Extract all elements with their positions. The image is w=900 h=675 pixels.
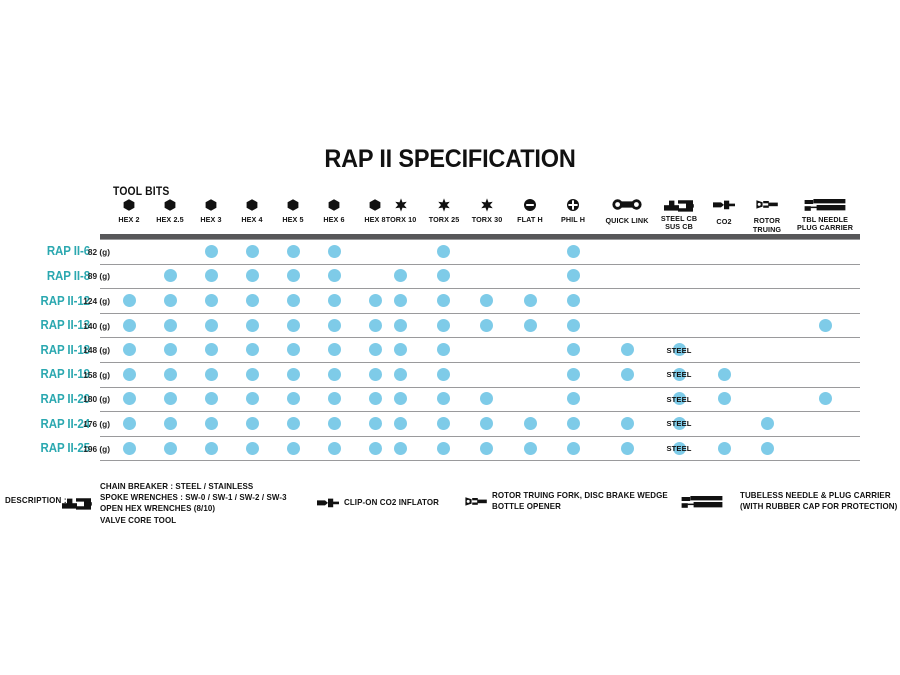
- column-header-label: TBL NEEDLEPLUG CARRIER: [790, 216, 860, 233]
- cell-dot-hex2: [123, 294, 136, 307]
- cell-dot-torx30: [480, 294, 493, 307]
- cell-dot-torx30: [480, 442, 493, 455]
- legend-line: (WITH RUBBER CAP FOR PROTECTION): [740, 501, 897, 512]
- cell-steel-label: STEEL: [654, 395, 704, 404]
- legend-line: CLIP-ON CO2 INFLATOR: [344, 497, 439, 508]
- cell-dot-hex8: [369, 343, 382, 356]
- cell-dot-hex5: [287, 269, 300, 282]
- hexagon-icon: [232, 197, 272, 214]
- column-header-label: HEX 6: [315, 216, 353, 225]
- column-header-label: ROTORTRUING: [746, 217, 788, 234]
- row-divider: [100, 411, 860, 412]
- row-weight: 176 (g): [74, 419, 110, 429]
- cell-dot-torx25: [437, 294, 450, 307]
- cell-dot-rotor: [761, 442, 774, 455]
- cell-dot-hex3: [205, 343, 218, 356]
- legend-text: TUBELESS NEEDLE & PLUG CARRIER(WITH RUBB…: [740, 490, 897, 512]
- row-divider: [100, 264, 860, 265]
- column-header-flath: FLAT H: [510, 196, 550, 232]
- cell-dot-torx25: [437, 392, 450, 405]
- hexagon-icon: [273, 197, 313, 214]
- column-header-co2: CO2: [707, 196, 741, 232]
- row-weight: 140 (g): [74, 321, 110, 331]
- cell-dot-hex2: [123, 392, 136, 405]
- flat-head-icon: [510, 197, 550, 214]
- cell-dot-hex2: [123, 319, 136, 332]
- cell-dot-philh: [567, 368, 580, 381]
- legend-rotor-truing-icon: [463, 495, 489, 508]
- cell-dot-torx10: [394, 442, 407, 455]
- quick-link-icon: [598, 198, 656, 215]
- column-header-hex2: HEX 2: [109, 196, 149, 232]
- cell-dot-hex25: [164, 392, 177, 405]
- cell-dot-hex3: [205, 245, 218, 258]
- cell-dot-torx30: [480, 392, 493, 405]
- column-header-label: HEX 2.5: [148, 216, 192, 225]
- row-divider: [100, 239, 860, 240]
- chain-breaker-icon: [654, 196, 704, 213]
- cell-dot-torx25: [437, 319, 450, 332]
- row-divider: [100, 313, 860, 314]
- cell-dot-torx10: [394, 368, 407, 381]
- cell-dot-hex4: [246, 417, 259, 430]
- cell-dot-philh: [567, 442, 580, 455]
- column-header-torx10: TORX 10: [378, 196, 424, 232]
- cell-dot-hex3: [205, 319, 218, 332]
- column-header-label: STEEL CBSUS CB: [655, 215, 703, 232]
- cell-dot-hex25: [164, 319, 177, 332]
- cell-dot-torx30: [480, 319, 493, 332]
- cell-dot-hex3: [205, 368, 218, 381]
- legend-text: ROTOR TRUING FORK, DISC BRAKE WEDGEBOTTL…: [492, 490, 668, 512]
- cell-dot-quicklink: [621, 368, 634, 381]
- cell-dot-hex4: [246, 343, 259, 356]
- row-weight: 148 (g): [74, 345, 110, 355]
- column-header-hex4: HEX 4: [232, 196, 272, 232]
- cell-dot-torx10: [394, 294, 407, 307]
- cell-dot-hex6: [328, 392, 341, 405]
- column-header-rotor: ROTORTRUING: [745, 196, 789, 232]
- cell-dot-philh: [567, 392, 580, 405]
- column-header-label: QUICK LINK: [599, 217, 654, 226]
- column-header-label: FLAT H: [511, 216, 549, 225]
- column-header-philh: PHIL H: [553, 196, 593, 232]
- cell-dot-hex8: [369, 319, 382, 332]
- cell-dot-philh: [567, 417, 580, 430]
- cell-dot-hex5: [287, 245, 300, 258]
- cell-dot-tbl: [819, 392, 832, 405]
- cell-dot-hex25: [164, 368, 177, 381]
- legend-line: CHAIN BREAKER : STEEL / STAINLESS: [100, 481, 287, 492]
- cell-dot-hex3: [205, 442, 218, 455]
- row-weight: 158 (g): [74, 370, 110, 380]
- cell-dot-hex6: [328, 343, 341, 356]
- row-weight: 180 (g): [74, 394, 110, 404]
- row-divider: [100, 436, 860, 437]
- cell-dot-hex4: [246, 319, 259, 332]
- description-heading: DESCRIPTION :: [5, 495, 67, 505]
- cell-dot-hex5: [287, 392, 300, 405]
- cell-dot-torx10: [394, 319, 407, 332]
- cell-dot-hex6: [328, 368, 341, 381]
- cell-dot-co2: [718, 368, 731, 381]
- row-divider: [100, 387, 860, 388]
- legend-line: ROTOR TRUING FORK, DISC BRAKE WEDGE: [492, 490, 668, 501]
- cell-dot-hex2: [123, 343, 136, 356]
- column-header-hex25: HEX 2.5: [147, 196, 193, 232]
- cell-dot-hex6: [328, 245, 341, 258]
- row-divider: [100, 288, 860, 289]
- legend-line: TUBELESS NEEDLE & PLUG CARRIER: [740, 490, 897, 501]
- cell-dot-philh: [567, 319, 580, 332]
- cell-dot-torx10: [394, 417, 407, 430]
- cell-dot-hex8: [369, 294, 382, 307]
- cell-dot-hex4: [246, 442, 259, 455]
- column-header-label: HEX 5: [274, 216, 312, 225]
- hexagon-icon: [314, 197, 354, 214]
- cell-dot-torx25: [437, 368, 450, 381]
- cell-dot-hex5: [287, 368, 300, 381]
- column-header-label: HEX 2: [110, 216, 148, 225]
- cell-dot-hex5: [287, 417, 300, 430]
- cell-dot-hex3: [205, 294, 218, 307]
- cell-dot-rotor: [761, 417, 774, 430]
- cell-dot-flath: [524, 294, 537, 307]
- torx-star-icon: [464, 197, 510, 214]
- cell-dot-hex2: [123, 368, 136, 381]
- legend-needle-plug-carrier-icon: [680, 494, 724, 510]
- cell-dot-torx25: [437, 343, 450, 356]
- row-weight: 89 (g): [74, 271, 110, 281]
- cell-dot-torx30: [480, 417, 493, 430]
- column-header-label: TORX 30: [465, 216, 509, 225]
- row-divider: [100, 460, 860, 461]
- cell-dot-hex6: [328, 319, 341, 332]
- phillips-head-icon: [553, 197, 593, 214]
- row-weight: 196 (g): [74, 444, 110, 454]
- column-header-label: HEX 3: [192, 216, 230, 225]
- cell-dot-torx25: [437, 442, 450, 455]
- column-header-hex6: HEX 6: [314, 196, 354, 232]
- cell-dot-hex8: [369, 368, 382, 381]
- cell-dot-hex8: [369, 417, 382, 430]
- cell-dot-hex25: [164, 343, 177, 356]
- cell-dot-philh: [567, 269, 580, 282]
- row-weight: 82 (g): [74, 247, 110, 257]
- column-header-label: TORX 10: [379, 216, 423, 225]
- cell-dot-torx25: [437, 269, 450, 282]
- cell-dot-hex3: [205, 269, 218, 282]
- cell-dot-flath: [524, 442, 537, 455]
- cell-dot-hex8: [369, 392, 382, 405]
- cell-dot-torx10: [394, 269, 407, 282]
- cell-steel-label: STEEL: [654, 419, 704, 428]
- cell-dot-hex8: [369, 442, 382, 455]
- cell-dot-flath: [524, 417, 537, 430]
- column-header-steelcb: STEEL CBSUS CB: [654, 196, 704, 232]
- cell-dot-hex6: [328, 294, 341, 307]
- cell-dot-hex5: [287, 294, 300, 307]
- cell-dot-hex6: [328, 417, 341, 430]
- cell-dot-philh: [567, 294, 580, 307]
- column-header-tbl: TBL NEEDLEPLUG CARRIER: [788, 196, 862, 232]
- legend-co2-inflator-icon: [315, 497, 341, 509]
- cell-dot-hex25: [164, 417, 177, 430]
- torx-star-icon: [378, 197, 424, 214]
- cell-dot-quicklink: [621, 343, 634, 356]
- column-header-label: TORX 25: [422, 216, 466, 225]
- cell-dot-hex4: [246, 392, 259, 405]
- cell-dot-hex25: [164, 294, 177, 307]
- legend-chain-breaker-icon: [60, 494, 94, 512]
- rotor-truing-icon: [745, 198, 789, 215]
- hexagon-icon: [147, 197, 193, 214]
- cell-dot-hex25: [164, 442, 177, 455]
- cell-dot-hex5: [287, 442, 300, 455]
- needle-plug-carrier-icon: [788, 197, 862, 214]
- specification-table: TOOL BITS HEX 2HEX 2.5HEX 3HEX 4HEX 5HEX…: [0, 0, 900, 675]
- cell-dot-hex4: [246, 269, 259, 282]
- column-header-hex5: HEX 5: [273, 196, 313, 232]
- row-weight: 124 (g): [74, 296, 110, 306]
- cell-dot-hex5: [287, 319, 300, 332]
- cell-dot-co2: [718, 442, 731, 455]
- column-header-label: PHIL H: [554, 216, 592, 225]
- column-header-quicklink: QUICK LINK: [598, 196, 656, 232]
- torx-star-icon: [421, 197, 467, 214]
- co2-inflator-icon: [707, 199, 741, 216]
- cell-dot-torx10: [394, 392, 407, 405]
- spec-sheet: RAP II SPECIFICATION TOOL BITS HEX 2HEX …: [0, 0, 900, 675]
- legend-line: SPOKE WRENCHES : SW-0 / SW-1 / SW-2 / SW…: [100, 492, 287, 503]
- cell-steel-label: STEEL: [654, 370, 704, 379]
- cell-dot-hex6: [328, 269, 341, 282]
- cell-dot-hex2: [123, 442, 136, 455]
- cell-steel-label: STEEL: [654, 444, 704, 453]
- column-header-torx25: TORX 25: [421, 196, 467, 232]
- cell-dot-co2: [718, 392, 731, 405]
- hexagon-icon: [191, 197, 231, 214]
- row-divider: [100, 362, 860, 363]
- cell-dot-hex4: [246, 294, 259, 307]
- cell-dot-quicklink: [621, 442, 634, 455]
- legend-text: CLIP-ON CO2 INFLATOR: [344, 497, 439, 508]
- cell-dot-hex3: [205, 417, 218, 430]
- cell-dot-hex2: [123, 417, 136, 430]
- legend-text: CHAIN BREAKER : STEEL / STAINLESSSPOKE W…: [100, 481, 287, 526]
- legend-line: VALVE CORE TOOL: [100, 515, 287, 526]
- cell-dot-philh: [567, 343, 580, 356]
- cell-dot-torx25: [437, 417, 450, 430]
- legend-line: OPEN HEX WRENCHES (8/10): [100, 503, 287, 514]
- column-header-hex3: HEX 3: [191, 196, 231, 232]
- cell-dot-flath: [524, 319, 537, 332]
- row-divider: [100, 337, 860, 338]
- cell-dot-torx10: [394, 343, 407, 356]
- column-header-label: HEX 4: [233, 216, 271, 225]
- cell-dot-torx25: [437, 245, 450, 258]
- cell-dot-hex4: [246, 245, 259, 258]
- cell-dot-hex5: [287, 343, 300, 356]
- cell-dot-hex25: [164, 269, 177, 282]
- cell-dot-quicklink: [621, 417, 634, 430]
- cell-dot-philh: [567, 245, 580, 258]
- cell-dot-hex3: [205, 392, 218, 405]
- hexagon-icon: [109, 197, 149, 214]
- column-header-torx30: TORX 30: [464, 196, 510, 232]
- cell-dot-hex6: [328, 442, 341, 455]
- legend-line: BOTTLE OPENER: [492, 501, 668, 512]
- cell-steel-label: STEEL: [654, 346, 704, 355]
- cell-dot-tbl: [819, 319, 832, 332]
- cell-dot-hex4: [246, 368, 259, 381]
- column-header-label: CO2: [708, 218, 740, 227]
